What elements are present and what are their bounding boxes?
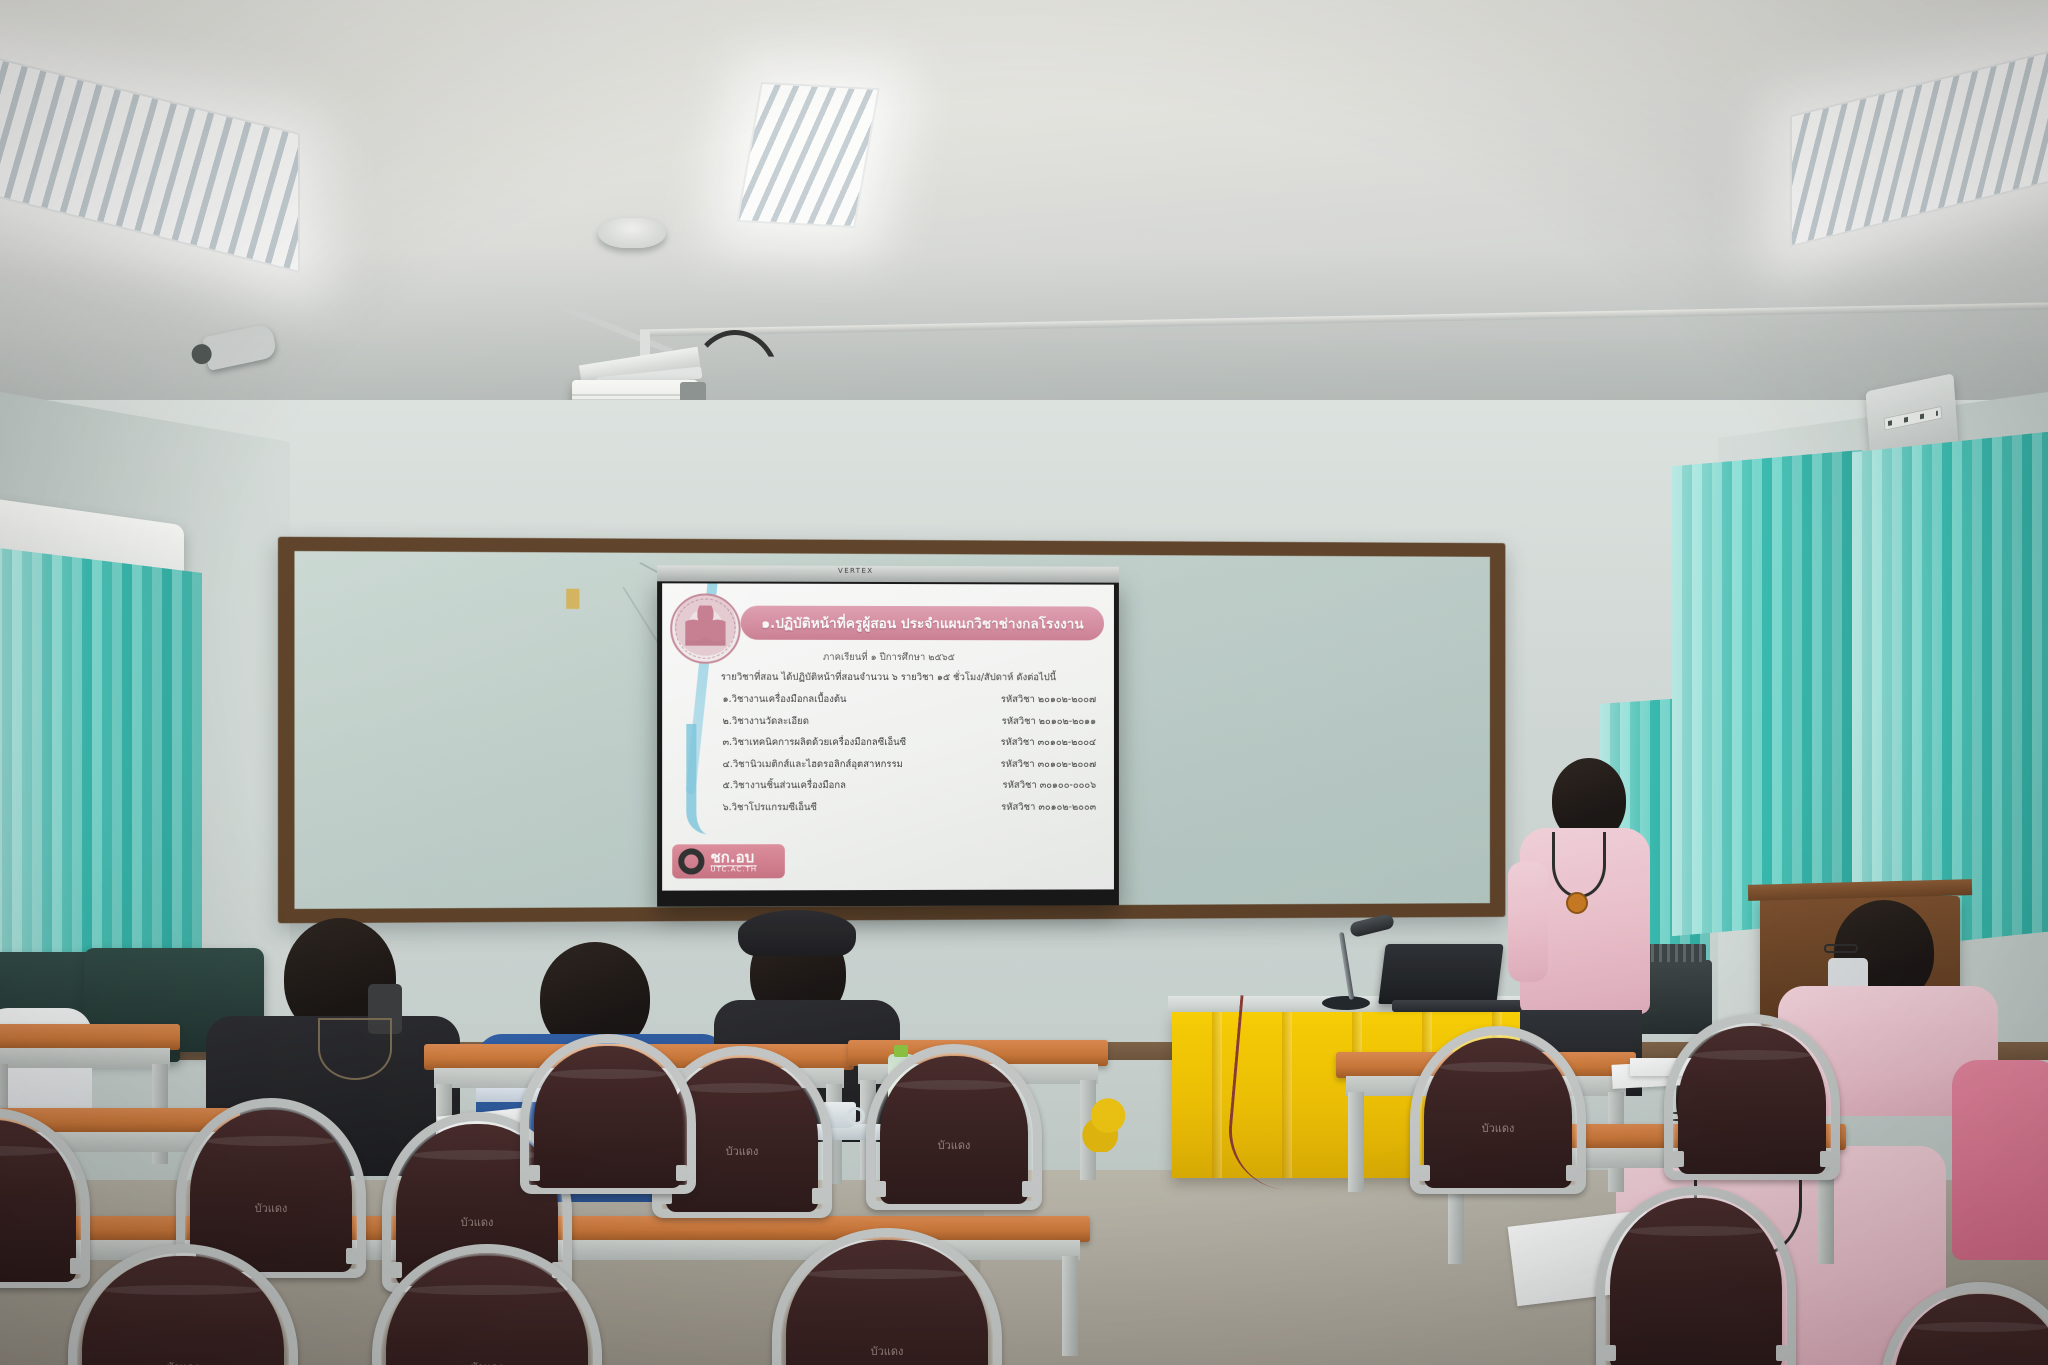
chair-brand-label: บัวแดง — [82, 1358, 284, 1365]
chair: บัวแดง — [68, 1244, 298, 1365]
chair-brand-label: บัวแดง — [880, 1136, 1028, 1154]
gear-icon — [678, 848, 704, 874]
course-name: ๑.วิชางานเครื่องมือกลเบื้องต้น — [723, 692, 847, 707]
slide-lead-text: รายวิชาที่สอน ได้ปฏิบัติหน้าที่สอนจำนวน … — [662, 670, 1114, 686]
course-code-label: รหัสวิชา — [1001, 799, 1035, 814]
attendee-strap — [318, 1018, 392, 1080]
course-code-label: รหัสวิชา — [1002, 714, 1036, 729]
course-row: ๒.วิชางานวัดละเอียด รหัสวิชา ๒๐๑๐๒-๒๐๑๑ — [723, 713, 1097, 728]
chair: บัวแดง — [372, 1244, 602, 1365]
course-row: ๑.วิชางานเครื่องมือกลเบื้องต้น รหัสวิชา … — [723, 692, 1097, 707]
course-code: ๒๐๑๐๒-๒๐๐๗ — [1038, 692, 1096, 707]
course-row: ๓.วิชาเทคนิคการผลิตด้วยเครื่องมือกลซีเอ็… — [723, 735, 1097, 750]
course-row: ๖.วิชาโปรแกรมซีเอ็นซี รหัสวิชา ๓๐๑๐๒-๒๐๐… — [723, 799, 1097, 814]
course-code: ๒๐๑๐๒-๒๐๑๑ — [1039, 714, 1096, 729]
course-code: ๓๐๑๐๐-๐๐๐๖ — [1040, 778, 1096, 793]
chair-brand-label: บัวแดง — [786, 1342, 988, 1360]
curtain-right-1 — [1672, 450, 1862, 937]
presenter-arm — [1508, 862, 1548, 982]
course-list: ๑.วิชางานเครื่องมือกลเบื้องต้น รหัสวิชา … — [723, 692, 1097, 821]
chair — [1596, 1186, 1796, 1365]
projection-screen-housing — [657, 565, 1119, 582]
projection-screen: VERTEX ๑.ปฏิบัติหน้าที่ครูผู้สอน ประจำแผ… — [657, 577, 1119, 906]
chair: บัวแดง — [866, 1044, 1042, 1210]
course-code-label: รหัสวิชา — [1001, 735, 1035, 750]
curtain-right-2 — [1852, 432, 2048, 953]
chair — [1880, 1282, 2048, 1365]
laptop-screen — [1378, 944, 1503, 1004]
smoke-detector — [598, 218, 666, 248]
screen-brand-label: VERTEX — [838, 567, 873, 575]
chair — [520, 1034, 696, 1194]
chair: บัวแดง — [772, 1228, 1002, 1365]
badge-name: ชก.อบ — [710, 850, 757, 865]
attendee-shirt — [1952, 1060, 2048, 1260]
institution-badge: ชก.อบ UTC.AC.TH — [672, 844, 785, 878]
classroom-presentation-photo: VERTEX ๑.ปฏิบัติหน้าที่ครูผู้สอน ประจำแผ… — [0, 0, 2048, 1365]
yellow-flower — [1082, 1096, 1134, 1152]
course-name: ๕.วิชางานชิ้นส่วนเครื่องมือกล — [723, 778, 846, 793]
chair-brand-label: บัวแดง — [190, 1199, 352, 1217]
ceiling-light-center — [736, 82, 880, 228]
slide-ribbon-curve — [686, 724, 708, 834]
chair — [0, 1108, 90, 1288]
course-row: ๕.วิชางานชิ้นส่วนเครื่องมือกล รหัสวิชา ๓… — [723, 778, 1097, 793]
chair — [1664, 1014, 1840, 1180]
course-code-label: รหัสวิชา — [1001, 692, 1035, 707]
chair: บัวแดง — [1410, 1026, 1586, 1194]
attendee-far-right — [1952, 1060, 2048, 1260]
badge-domain: UTC.AC.TH — [710, 865, 757, 873]
presenter-lanyard — [1552, 832, 1606, 898]
chair-brand-label: บัวแดง — [386, 1358, 588, 1365]
course-name: ๒.วิชางานวัดละเอียด — [723, 713, 809, 728]
slide-subtitle: ภาคเรียนที่ ๑ ปีการศึกษา ๒๕๖๕ — [662, 650, 1114, 666]
slide-title-text: ๑.ปฏิบัติหน้าที่ครูผู้สอน ประจำแผนกวิชาช… — [761, 612, 1083, 635]
course-name: ๓.วิชาเทคนิคการผลิตด้วยเครื่องมือกลซีเอ็… — [723, 735, 919, 750]
curtain-left — [0, 547, 202, 1003]
course-name: ๖.วิชาโปรแกรมซีเอ็นซี — [723, 800, 817, 815]
presenter-id-badge — [1566, 892, 1588, 914]
laptop-keyboard — [1392, 1000, 1522, 1012]
course-name: ๔.วิชานิวเมติกส์และไฮดรอลิกส์อุตสาหกรรม — [723, 756, 919, 771]
chair-brand-label: บัวแดง — [1424, 1119, 1572, 1137]
chair-brand-label: บัวแดง — [396, 1213, 558, 1231]
course-code: ๓๐๑๐๒-๒๐๐๓ — [1038, 799, 1096, 814]
microphone-base — [1322, 996, 1370, 1010]
course-code: ๓๐๑๐๒-๒๐๐๔ — [1038, 735, 1096, 750]
course-row: ๔.วิชานิวเมติกส์และไฮดรอลิกส์อุตสาหกรรม … — [723, 756, 1097, 771]
glasses-icon — [1824, 944, 1858, 953]
slide-title-bar: ๑.ปฏิบัติหน้าที่ครูผู้สอน ประจำแผนกวิชาช… — [741, 606, 1104, 641]
attendee-cap — [738, 910, 856, 956]
course-code: ๓๐๑๐๒-๒๐๐๗ — [1038, 756, 1096, 771]
presentation-slide: ๑.ปฏิบัติหน้าที่ครูผู้สอน ประจำแผนกวิชาช… — [662, 583, 1114, 890]
course-code-label: รหัสวิชา — [1003, 778, 1037, 793]
course-code-label: รหัสวิชา — [1001, 756, 1035, 771]
